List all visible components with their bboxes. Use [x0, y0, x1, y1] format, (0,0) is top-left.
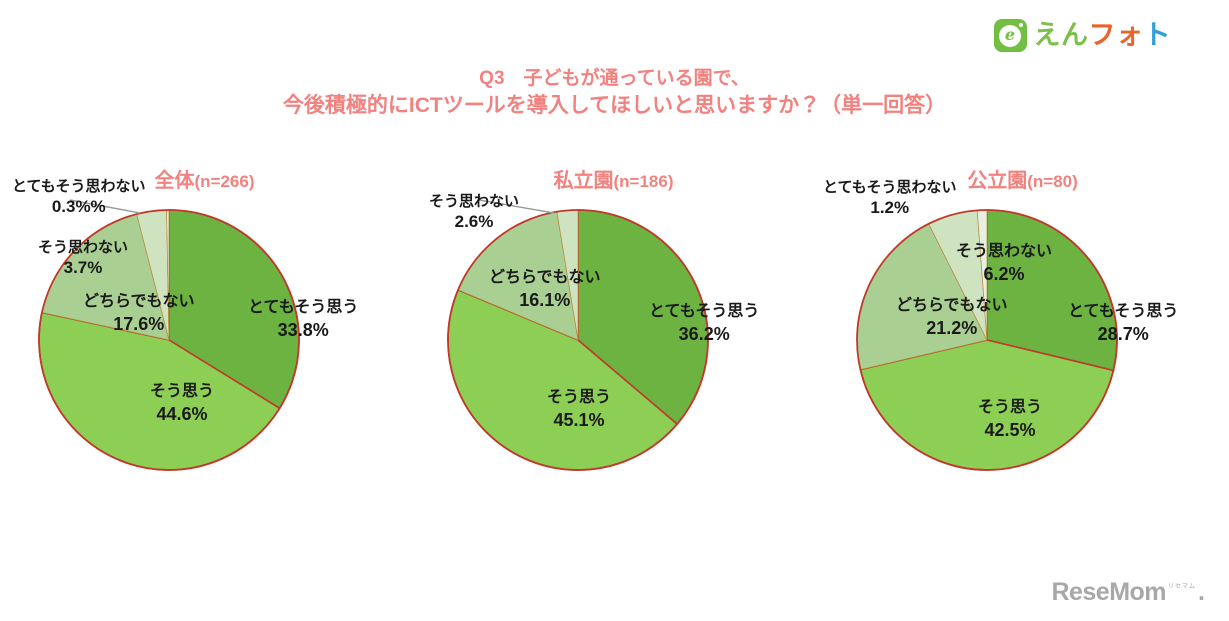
- slice-label-value: 16.1%: [489, 289, 601, 312]
- page-title: Q3 子どもが通っている園で、 今後積極的にICTツールを導入してほしいと思いま…: [0, 66, 1229, 121]
- slice-label-agree: そう思う42.5%: [978, 398, 1042, 442]
- pie-chart-3: 公立園(n=80)とてもそう思う28.7%そう思う42.5%どちらでもない21.…: [818, 150, 1227, 530]
- slice-label-value: 42.5%: [978, 419, 1042, 442]
- slice-label-very-agree: とてもそう思う33.8%: [248, 298, 358, 342]
- slice-label-name: そう思う: [547, 389, 611, 406]
- slice-label-name: そう思う: [978, 399, 1042, 416]
- watermark-subtext: リセマム: [1168, 584, 1196, 605]
- slice-label-value: 33.8%: [248, 319, 358, 342]
- callout-label-name: とてもそう思わない: [823, 179, 957, 196]
- watermark-dot: .: [1198, 580, 1205, 605]
- camera-flash-dot: [1019, 23, 1023, 27]
- logo-letter-e: e: [999, 25, 1021, 47]
- slice-label-name: そう思う: [150, 383, 214, 400]
- slice-label-agree: そう思う45.1%: [547, 388, 611, 432]
- callout-label-name: とてもそう思わない: [12, 178, 146, 195]
- slice-label-neutral: どちらでもない17.6%: [83, 292, 195, 336]
- slice-label-very-agree: とてもそう思う36.2%: [649, 302, 759, 346]
- callout-label-disagree: そう思わない2.6%: [429, 192, 519, 233]
- slice-label-value: 36.2%: [649, 323, 759, 346]
- logo-text-to: ト: [1144, 20, 1172, 50]
- logo-text-fo: フォ: [1089, 20, 1144, 50]
- pie-chart-2: 私立園(n=186)とてもそう思う36.2%そう思う45.1%どちらでもない16…: [409, 150, 818, 530]
- logo-wordmark: えんフォト: [1034, 22, 1172, 49]
- callout-label-very-disagree: とてもそう思わない0.3%%: [12, 177, 146, 218]
- callout-label-name: そう思わない: [38, 239, 128, 256]
- pie-chart-1: 全体(n=266)とてもそう思う33.8%そう思う44.6%どちらでもない17.…: [0, 150, 409, 530]
- slice-label-name: そう思わない: [956, 243, 1052, 260]
- slice-label-name: とてもそう思う: [248, 299, 358, 316]
- slice-label-value: 17.6%: [83, 313, 195, 336]
- callout-label-value: 0.3%%: [12, 196, 146, 218]
- callout-label-value: 3.7%: [38, 257, 128, 279]
- slice-label-name: とてもそう思う: [1068, 303, 1178, 320]
- callout-label-very-disagree: とてもそう思わない1.2%: [823, 178, 957, 219]
- slice-label-value: 28.7%: [1068, 323, 1178, 346]
- slice-label-value: 21.2%: [896, 317, 1008, 340]
- slice-label-neutral: どちらでもない21.2%: [896, 296, 1008, 340]
- resemom-watermark: ReseMom リセマム .: [1051, 580, 1205, 605]
- slice-label-very-agree: とてもそう思う28.7%: [1068, 302, 1178, 346]
- callout-label-value: 2.6%: [429, 211, 519, 233]
- callout-label-disagree: そう思わない3.7%: [38, 238, 128, 279]
- slice-label-name: とてもそう思う: [649, 303, 759, 320]
- watermark-text: ReseMom: [1051, 580, 1166, 605]
- pie-chart-row: 全体(n=266)とてもそう思う33.8%そう思う44.6%どちらでもない17.…: [0, 150, 1229, 530]
- logo-text-en: えん: [1034, 20, 1089, 50]
- camera-e-icon: e: [994, 19, 1027, 52]
- page-title-line-1: Q3 子どもが通っている園で、: [0, 66, 1229, 92]
- page-title-line-2: 今後積極的にICTツールを導入してほしいと思いますか？（単一回答）: [0, 92, 1229, 121]
- slice-label-value: 44.6%: [150, 403, 214, 426]
- callout-label-value: 1.2%: [823, 197, 957, 219]
- slice-label-name: どちらでもない: [489, 269, 601, 286]
- callout-label-name: そう思わない: [429, 193, 519, 210]
- slice-label-disagree: そう思わない6.2%: [956, 242, 1052, 286]
- slice-label-agree: そう思う44.6%: [150, 382, 214, 426]
- slice-label-value: 6.2%: [956, 263, 1052, 286]
- slice-label-neutral: どちらでもない16.1%: [489, 268, 601, 312]
- brand-logo: e えんフォト: [994, 19, 1172, 52]
- slice-label-value: 45.1%: [547, 409, 611, 432]
- slice-label-name: どちらでもない: [83, 293, 195, 310]
- slice-label-name: どちらでもない: [896, 297, 1008, 314]
